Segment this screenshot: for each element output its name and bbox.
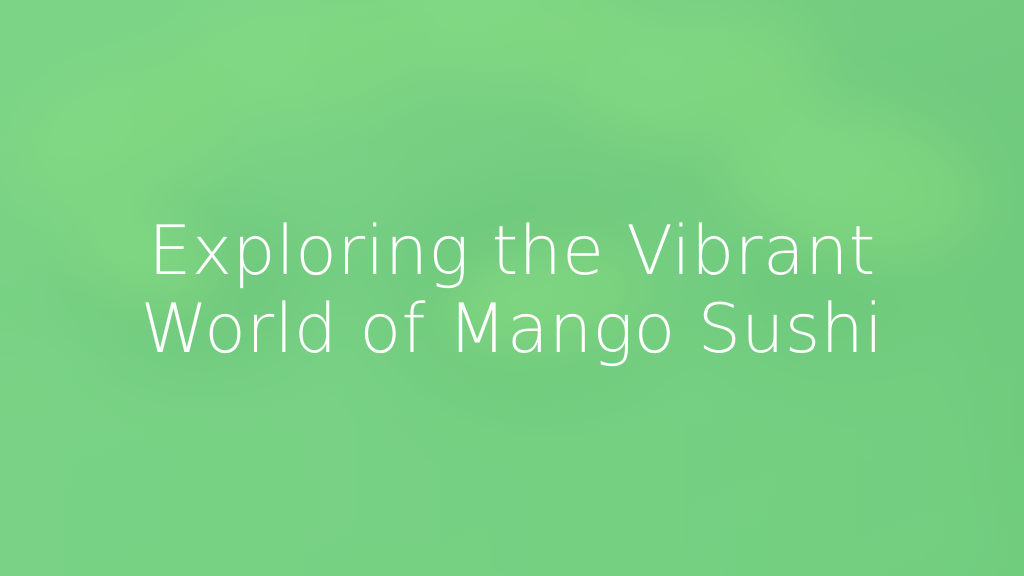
title-line-2: World of Mango Sushi [141, 291, 884, 369]
hero-title-card: Exploring the Vibrant World of Mango Sus… [0, 0, 1024, 576]
title-block: Exploring the Vibrant World of Mango Sus… [0, 0, 1024, 576]
title-line-1: Exploring the Vibrant [148, 213, 875, 291]
